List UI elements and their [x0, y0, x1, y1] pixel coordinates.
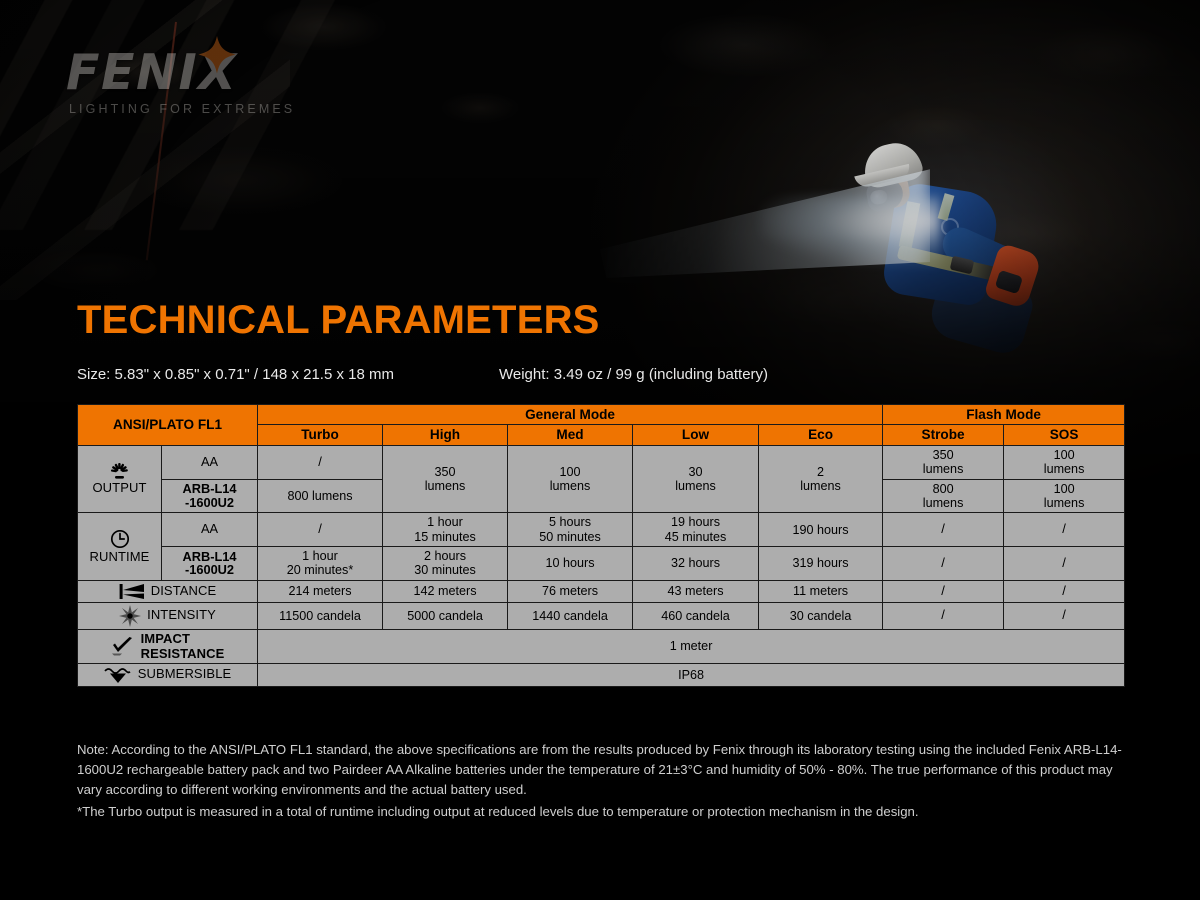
- column-header-strobe: Strobe: [883, 425, 1004, 445]
- cell-runtime-arb-med: 10 hours: [508, 547, 633, 581]
- size-text: Size: 5.83" x 0.85" x 0.71" / 148 x 21.5…: [77, 366, 394, 383]
- row-label-output: OUTPUT: [78, 445, 162, 512]
- cell-output-eco: 2lumens: [759, 445, 883, 512]
- cell-distance-turbo: 214 meters: [258, 580, 383, 602]
- column-header-turbo: Turbo: [258, 425, 383, 445]
- weight-text: Weight: 3.49 oz / 99 g (including batter…: [499, 366, 768, 383]
- fenix-logo: FENIX LIGHTING FOR EXTREMES: [66, 48, 295, 116]
- cell-distance-eco: 11 meters: [759, 580, 883, 602]
- cell-output-arb-sos: 100lumens: [1004, 479, 1125, 513]
- cell-runtime-aa-strobe: /: [883, 513, 1004, 547]
- table-row: IMPACT RESISTANCE 1 meter: [78, 629, 1125, 663]
- cell-output-high: 350lumens: [383, 445, 508, 512]
- cell-distance-strobe: /: [883, 580, 1004, 602]
- column-header-med: Med: [508, 425, 633, 445]
- group-header-general-mode: General Mode: [258, 405, 883, 425]
- cell-output-med: 100lumens: [508, 445, 633, 512]
- table-row: ARB-L14 -1600U2 1 hour20 minutes* 2 hour…: [78, 547, 1125, 581]
- fenix-tagline: LIGHTING FOR EXTREMES: [69, 102, 295, 116]
- cell-runtime-arb-eco: 319 hours: [759, 547, 883, 581]
- cell-intensity-high: 5000 candela: [383, 602, 508, 629]
- row-label-text: INTENSITY: [147, 608, 216, 623]
- cell-intensity-eco: 30 candela: [759, 602, 883, 629]
- cell-distance-sos: /: [1004, 580, 1125, 602]
- table-row: INTENSITY 11500 candela 5000 candela 144…: [78, 602, 1125, 629]
- star-spark-icon: [197, 35, 237, 75]
- cell-submersible-value: IP68: [258, 663, 1125, 686]
- battery-label-arb: ARB-L14 -1600U2: [162, 479, 258, 513]
- cell-distance-low: 43 meters: [633, 580, 759, 602]
- row-label-text: RUNTIME: [90, 550, 150, 565]
- ansi-plato-label: ANSI/PLATO FL1: [78, 405, 258, 446]
- cell-output-arb-turbo: 800 lumens: [258, 479, 383, 513]
- cell-runtime-aa-sos: /: [1004, 513, 1125, 547]
- cell-runtime-aa-eco: 190 hours: [759, 513, 883, 547]
- battery-label-aa: AA: [162, 445, 258, 479]
- cell-output-aa-turbo: /: [258, 445, 383, 479]
- page-root: FENIX LIGHTING FOR EXTREMES TECHNICAL PA…: [0, 0, 1200, 900]
- notes-block: Note: According to the ANSI/PLATO FL1 st…: [77, 740, 1132, 822]
- cell-runtime-arb-high: 2 hours30 minutes: [383, 547, 508, 581]
- beam-distance-icon: [119, 583, 145, 600]
- cell-runtime-aa-high: 1 hour15 minutes: [383, 513, 508, 547]
- cell-distance-med: 76 meters: [508, 580, 633, 602]
- column-header-eco: Eco: [759, 425, 883, 445]
- battery-label-aa: AA: [162, 513, 258, 547]
- note-paragraph: Note: According to the ANSI/PLATO FL1 st…: [77, 740, 1132, 800]
- cell-intensity-low: 460 candela: [633, 602, 759, 629]
- cell-runtime-aa-low: 19 hours45 minutes: [633, 513, 759, 547]
- column-header-sos: SOS: [1004, 425, 1125, 445]
- cell-runtime-arb-low: 32 hours: [633, 547, 759, 581]
- cell-distance-high: 142 meters: [383, 580, 508, 602]
- row-label-text: DISTANCE: [151, 584, 217, 599]
- sun-burst-icon: [105, 463, 135, 480]
- cell-output-aa-strobe: 350lumens: [883, 445, 1004, 479]
- technical-parameters-table: ANSI/PLATO FL1 General Mode Flash Mode T…: [77, 404, 1125, 687]
- cell-impact-resistance-value: 1 meter: [258, 629, 1125, 663]
- table-row: RUNTIME AA / 1 hour15 minutes 5 hours50 …: [78, 513, 1125, 547]
- row-label-text: OUTPUT: [92, 481, 146, 496]
- table-row: SUBMERSIBLE IP68: [78, 663, 1125, 686]
- row-label-distance: DISTANCE: [78, 580, 258, 602]
- note-footnote: *The Turbo output is measured in a total…: [77, 802, 1132, 822]
- cell-output-arb-strobe: 800lumens: [883, 479, 1004, 513]
- cell-output-aa-sos: 100lumens: [1004, 445, 1125, 479]
- cell-intensity-sos: /: [1004, 602, 1125, 629]
- fenix-wordmark: FENIX: [66, 48, 295, 97]
- row-label-submersible: SUBMERSIBLE: [78, 663, 258, 686]
- cell-runtime-aa-turbo: /: [258, 513, 383, 547]
- column-header-high: High: [383, 425, 508, 445]
- cell-runtime-arb-strobe: /: [883, 547, 1004, 581]
- cell-intensity-strobe: /: [883, 602, 1004, 629]
- table-row: DISTANCE 214 meters 142 meters 76 meters…: [78, 580, 1125, 602]
- row-label-intensity: INTENSITY: [78, 602, 258, 629]
- cell-runtime-aa-med: 5 hours50 minutes: [508, 513, 633, 547]
- table-row: OUTPUT AA / 350lumens 100lumens 30lumens…: [78, 445, 1125, 479]
- intensity-burst-icon: [119, 605, 141, 627]
- cell-runtime-arb-sos: /: [1004, 547, 1125, 581]
- water-waves-icon: [104, 666, 132, 684]
- group-header-flash-mode: Flash Mode: [883, 405, 1125, 425]
- row-label-text: IMPACT: [141, 632, 190, 646]
- impact-hammer-icon: [111, 636, 135, 656]
- cell-output-low: 30lumens: [633, 445, 759, 512]
- cell-runtime-arb-turbo: 1 hour20 minutes*: [258, 547, 383, 581]
- page-title: TECHNICAL PARAMETERS: [77, 300, 600, 340]
- row-label-runtime: RUNTIME: [78, 513, 162, 580]
- cell-intensity-turbo: 11500 candela: [258, 602, 383, 629]
- column-header-low: Low: [633, 425, 759, 445]
- battery-label-arb: ARB-L14 -1600U2: [162, 547, 258, 581]
- row-label-text-2: RESISTANCE: [141, 647, 225, 661]
- row-label-impact-resistance: IMPACT RESISTANCE: [78, 629, 258, 663]
- table-group-header-row: ANSI/PLATO FL1 General Mode Flash Mode: [78, 405, 1125, 425]
- row-label-text: SUBMERSIBLE: [138, 667, 232, 682]
- clock-icon: [110, 529, 130, 549]
- spec-table-wrapper: ANSI/PLATO FL1 General Mode Flash Mode T…: [77, 404, 1124, 687]
- cell-intensity-med: 1440 candela: [508, 602, 633, 629]
